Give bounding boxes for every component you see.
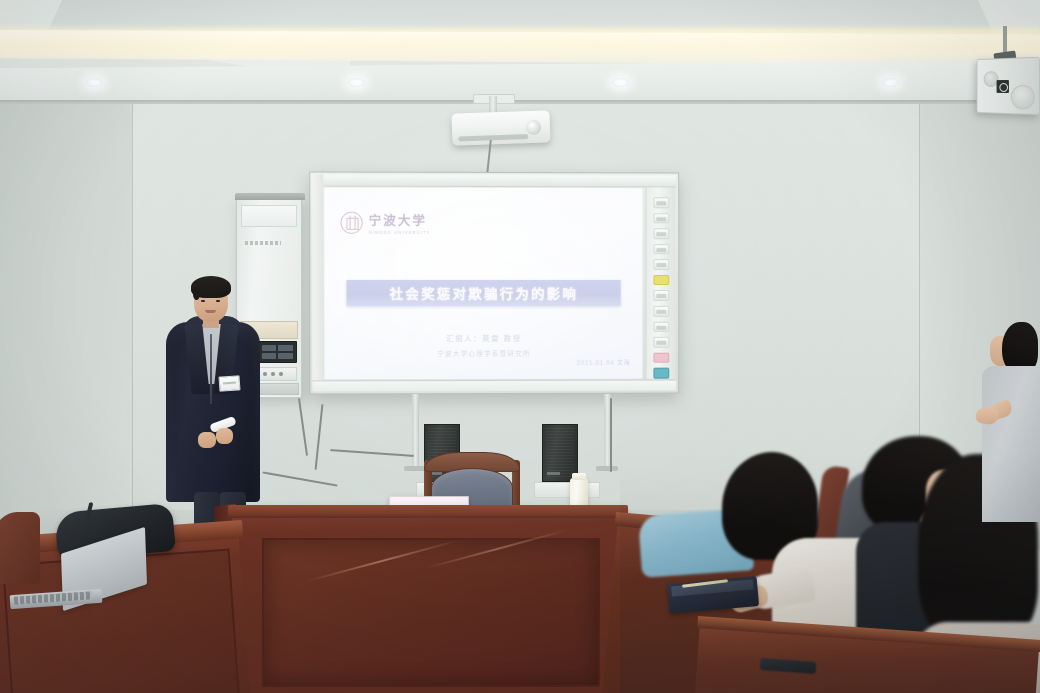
- whiteboard-tool-button[interactable]: [653, 337, 669, 348]
- wall-speaker: [977, 57, 1040, 115]
- slide-title-band: 社会奖惩对欺骗行为的影响: [347, 280, 621, 306]
- standing-person-coat: [982, 366, 1040, 522]
- presenter-eye-left: [201, 300, 205, 302]
- lecture-room-scene: 宁波大学 NINGBO UNIVERSITY 社会奖惩对欺骗行为的影响 汇报人：…: [0, 0, 1040, 693]
- downlight-icon: [882, 78, 899, 87]
- speaker-brand-logo-icon: [997, 80, 1009, 93]
- slide-affiliation-line: 宁波大学心理学系暨研究所: [324, 348, 642, 359]
- presenter-name-badge: [219, 375, 241, 391]
- slide-date-line: 2021.01.04 文海: [577, 358, 631, 367]
- whiteboard-tool-button[interactable]: [653, 228, 669, 239]
- whiteboard-tool-button[interactable]: [653, 306, 669, 317]
- whiteboard-power-button[interactable]: [653, 368, 669, 379]
- whiteboard-tool-button[interactable]: [653, 197, 669, 208]
- presenter-zipper: [210, 334, 212, 404]
- downlight-icon: [612, 78, 629, 87]
- projected-slide: 宁波大学 NINGBO UNIVERSITY 社会奖惩对欺骗行为的影响 汇报人：…: [324, 188, 642, 380]
- downlight-icon: [348, 78, 365, 87]
- slide-university-logo: 宁波大学 NINGBO UNIVERSITY: [340, 210, 430, 235]
- whiteboard-bezel-bottom: [312, 380, 676, 392]
- whiteboard-tool-button[interactable]: [653, 321, 669, 332]
- front-left-chair[interactable]: [0, 512, 40, 584]
- whiteboard-bezel-left: [312, 175, 323, 392]
- cabinet-upper-door[interactable]: [241, 205, 297, 227]
- whiteboard-tool-button[interactable]: [653, 259, 669, 270]
- presenter-hand-right: [216, 428, 233, 444]
- whiteboard-tool-button[interactable]: [653, 244, 669, 255]
- speaker-grill: [546, 428, 574, 478]
- podium-top-surface: [228, 505, 628, 518]
- slide-title: 社会奖惩对欺骗行为的影响: [390, 283, 578, 303]
- podium-front-panel: [262, 538, 600, 687]
- whiteboard-pen-red-button[interactable]: [653, 352, 669, 363]
- slide-presenter-line: 汇报人：莫雷 教授: [324, 333, 642, 344]
- downlight-icon: [86, 78, 103, 87]
- presenter-eye-right: [216, 300, 220, 302]
- thermos-cap: [572, 473, 586, 480]
- whiteboard-stand-foot-right: [596, 466, 618, 471]
- whiteboard-bezel-top: [312, 175, 676, 188]
- university-emblem-icon: [340, 211, 362, 233]
- presenter-hand-left: [198, 432, 216, 448]
- interactive-whiteboard[interactable]: 宁波大学 NINGBO UNIVERSITY 社会奖惩对欺骗行为的影响 汇报人：…: [309, 172, 679, 395]
- ceiling-projector: [451, 110, 550, 145]
- whiteboard-tool-strip[interactable]: [645, 187, 675, 378]
- speaker-shelf-right: [534, 482, 600, 498]
- projector-lens-icon: [526, 120, 542, 136]
- university-name-cn: 宁波大学: [369, 210, 431, 229]
- whiteboard-stand-foot-left: [404, 466, 426, 471]
- cable: [610, 398, 612, 472]
- speaker-woofer-icon: [1011, 85, 1035, 110]
- presenter-hair: [191, 276, 231, 298]
- standing-audience-person: [978, 322, 1040, 522]
- left-wall: [0, 104, 132, 544]
- podium: [232, 512, 624, 693]
- cabinet-top-cap: [235, 193, 305, 200]
- wall-corner-seam-left: [132, 104, 133, 544]
- speaker-badge-icon: [547, 472, 560, 475]
- whiteboard-highlighter-button[interactable]: [653, 275, 669, 286]
- whiteboard-tool-button[interactable]: [653, 290, 669, 301]
- presenter-mouth: [205, 310, 216, 313]
- university-name-en: NINGBO UNIVERSITY: [369, 230, 431, 235]
- whiteboard-tool-button[interactable]: [653, 213, 669, 224]
- cabinet-label: [245, 241, 281, 245]
- cove-light-band: [0, 30, 1040, 66]
